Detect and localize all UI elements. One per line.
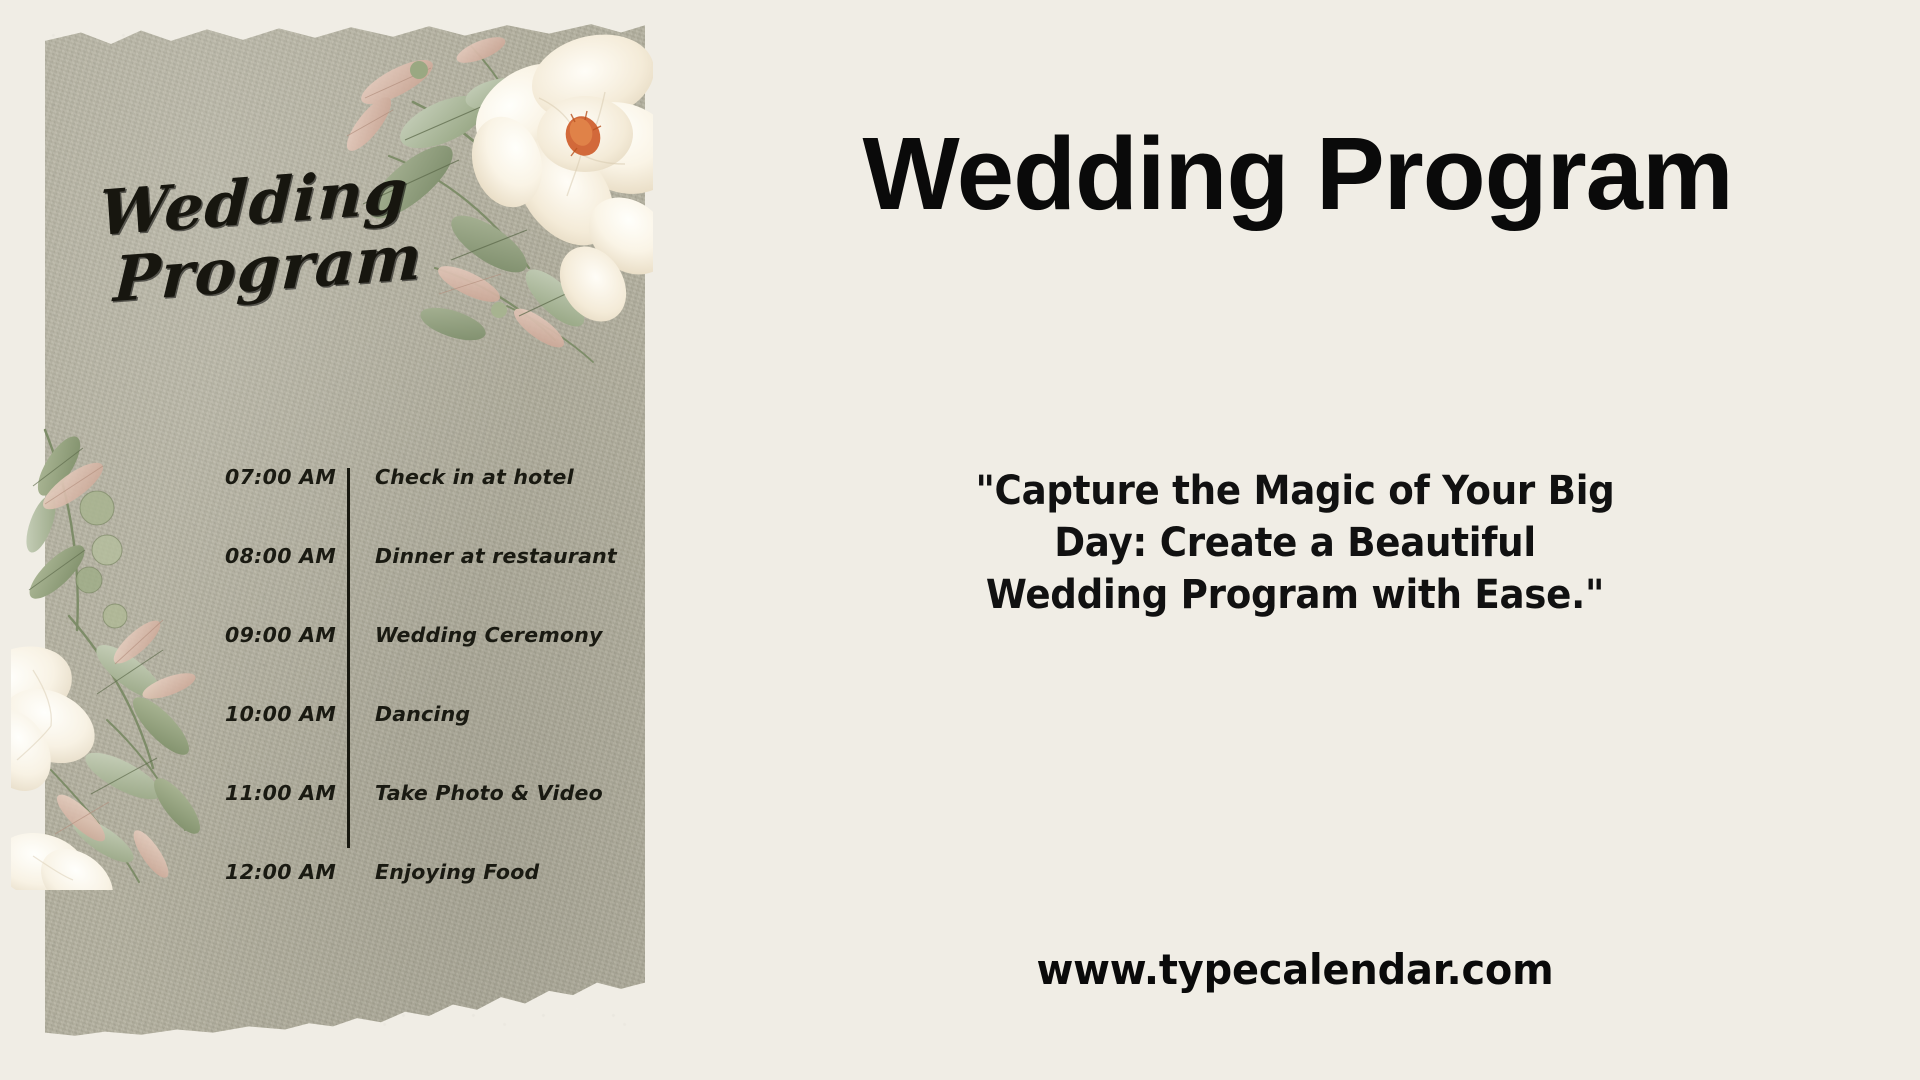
schedule-event: Check in at hotel [347,465,574,489]
schedule-time: 07:00 AM [225,465,347,489]
schedule-event: Enjoying Food [347,860,539,884]
schedule-time: 11:00 AM [225,781,347,805]
tagline-line2: Day: Create a Beautiful [779,517,1811,569]
schedule-time: 10:00 AM [225,702,347,726]
schedule-row: 07:00 AM Check in at hotel [225,465,625,544]
tagline-line1: "Capture the Magic of Your Big [779,465,1811,517]
schedule-row: 08:00 AM Dinner at restaurant [225,544,625,623]
schedule-row: 09:00 AM Wedding Ceremony [225,623,625,702]
wedding-program-card: Wedding Program 07:00 AM Check in at hot… [45,20,645,1064]
tagline-quote: "Capture the Magic of Your Big Day: Crea… [779,465,1811,621]
page-title: Wedding Program [690,122,1905,225]
schedule-time: 08:00 AM [225,544,347,568]
schedule-event: Take Photo & Video [347,781,603,805]
schedule-list: 07:00 AM Check in at hotel 08:00 AM Dinn… [225,465,625,939]
schedule-row: 11:00 AM Take Photo & Video [225,781,625,860]
schedule-row: 12:00 AM Enjoying Food [225,860,625,939]
right-content-panel: Wedding Program "Capture the Magic of Yo… [680,0,1920,1080]
schedule-time: 09:00 AM [225,623,347,647]
schedule-event: Dancing [347,702,470,726]
schedule-time: 12:00 AM [225,860,347,884]
schedule-event: Dinner at restaurant [347,544,617,568]
website-url[interactable]: www.typecalendar.com [768,945,1823,994]
tagline-line3: Wedding Program with Ease." [779,569,1811,621]
schedule-row: 10:00 AM Dancing [225,702,625,781]
card-script-title: Wedding Program [94,158,430,313]
schedule-event: Wedding Ceremony [347,623,603,647]
